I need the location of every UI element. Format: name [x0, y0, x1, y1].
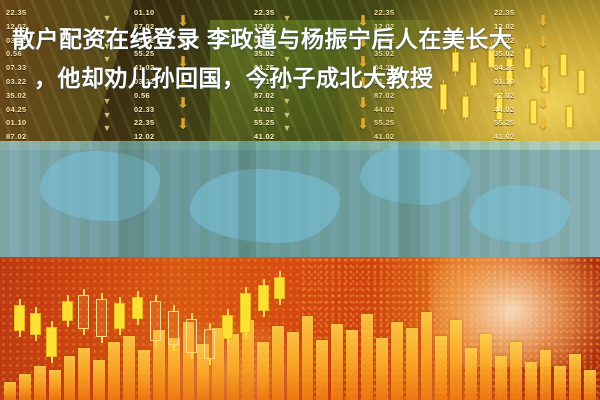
candlestick-lower-wick	[279, 298, 281, 305]
candlestick-upper-wick	[67, 295, 69, 302]
candlestick-upper-wick	[263, 279, 265, 286]
bar	[435, 336, 447, 400]
bar	[391, 322, 403, 400]
bar	[510, 342, 522, 400]
candlestick-upper-wick	[51, 321, 53, 328]
candlestick	[150, 301, 161, 341]
bar	[450, 320, 462, 400]
candlestick-lower-wick	[191, 352, 193, 359]
down-arrow-icon: ▼	[280, 122, 294, 136]
cover-image: 22.3512.0203.220.5607.3303.2235.0204.250…	[0, 0, 600, 400]
bar	[331, 324, 343, 400]
candlestick-lower-wick	[173, 344, 175, 351]
candlestick-lower-wick	[245, 332, 247, 339]
down-arrow-icon: ▼	[100, 122, 114, 136]
candlestick-upper-wick	[191, 313, 193, 320]
candlestick	[222, 315, 233, 339]
candlestick-upper-wick	[19, 299, 21, 306]
candlestick-upper-wick	[35, 307, 37, 314]
bar	[78, 348, 90, 400]
candlestick	[132, 297, 143, 319]
bar	[554, 366, 566, 400]
bar	[316, 340, 328, 400]
candlestick-upper-wick	[155, 295, 157, 302]
bar	[287, 332, 299, 400]
bar	[272, 326, 284, 400]
vertical-shade-stripe-3	[398, 141, 420, 259]
bar	[4, 382, 16, 400]
vertical-shade-stripe-1	[118, 141, 144, 259]
quote-value: 55.25	[360, 116, 480, 130]
bar	[569, 354, 581, 400]
bar	[138, 350, 150, 400]
candlestick-lower-wick	[119, 328, 121, 335]
bar	[346, 330, 358, 400]
map-landmass-shape-2	[190, 169, 340, 243]
bar	[361, 314, 373, 400]
candlestick-upper-wick	[173, 305, 175, 312]
candlestick-upper-wick	[83, 289, 85, 296]
candlestick-upper-wick	[137, 291, 139, 298]
bar	[108, 342, 120, 400]
vertical-shade-stripe-2	[238, 141, 256, 259]
bar	[123, 336, 135, 400]
candlestick	[258, 285, 269, 311]
candlestick	[168, 311, 179, 345]
headline-text-block: 散户配资在线登录 李政道与杨振宁后人在美长大 ，他却劝儿孙回国，今孙子成北大教授	[0, 0, 600, 118]
candlestick-lower-wick	[137, 318, 139, 325]
headline-line-1: 散户配资在线登录 李政道与杨振宁后人在美长大	[12, 20, 588, 59]
candlestick-lower-wick	[263, 310, 265, 317]
candlestick	[96, 299, 107, 337]
candlestick-upper-wick	[227, 309, 229, 316]
candlestick	[78, 295, 89, 329]
bar	[302, 316, 314, 400]
bar	[406, 328, 418, 400]
bar	[525, 362, 537, 400]
headline-overlay-band	[0, 141, 600, 259]
candlestick	[240, 293, 251, 333]
candlestick-lower-wick	[67, 320, 69, 327]
bar	[540, 350, 552, 400]
candlestick-lower-wick	[155, 340, 157, 347]
map-landmass-shape-4	[470, 185, 570, 243]
candlestick-upper-wick	[279, 271, 281, 278]
candlestick-upper-wick	[209, 323, 211, 330]
candlestick	[62, 301, 73, 321]
bar	[465, 348, 477, 400]
quote-value: 55.25	[240, 116, 360, 130]
candlestick	[204, 329, 215, 359]
candlestick	[46, 327, 57, 357]
candlestick-upper-wick	[119, 297, 121, 304]
bottom-market-chart-band	[0, 257, 600, 400]
candlestick-lower-wick	[83, 328, 85, 335]
bar	[34, 366, 46, 400]
bar	[227, 334, 239, 400]
candlestick-lower-wick	[19, 330, 21, 337]
bar	[49, 370, 61, 400]
candlestick	[30, 313, 41, 335]
bar	[19, 374, 31, 400]
candlestick	[274, 277, 285, 299]
bar	[421, 312, 433, 400]
candlestick-lower-wick	[51, 356, 53, 363]
bottom-bar-chart	[0, 300, 600, 400]
bar	[495, 356, 507, 400]
candlestick-lower-wick	[209, 358, 211, 365]
bar	[257, 342, 269, 400]
bar	[64, 356, 76, 400]
bar	[93, 360, 105, 400]
candlestick	[14, 305, 25, 331]
headline-line-2: ，他却劝儿孙回国，今孙子成北大教授	[12, 59, 588, 98]
candlestick-lower-wick	[227, 338, 229, 345]
candlestick	[114, 303, 125, 329]
candlestick-upper-wick	[245, 287, 247, 294]
candlestick-lower-wick	[35, 334, 37, 341]
candlestick-lower-wick	[101, 336, 103, 343]
bar	[376, 338, 388, 400]
bar	[584, 370, 596, 400]
candlestick	[186, 319, 197, 353]
bar	[480, 334, 492, 400]
candlestick-upper-wick	[101, 293, 103, 300]
